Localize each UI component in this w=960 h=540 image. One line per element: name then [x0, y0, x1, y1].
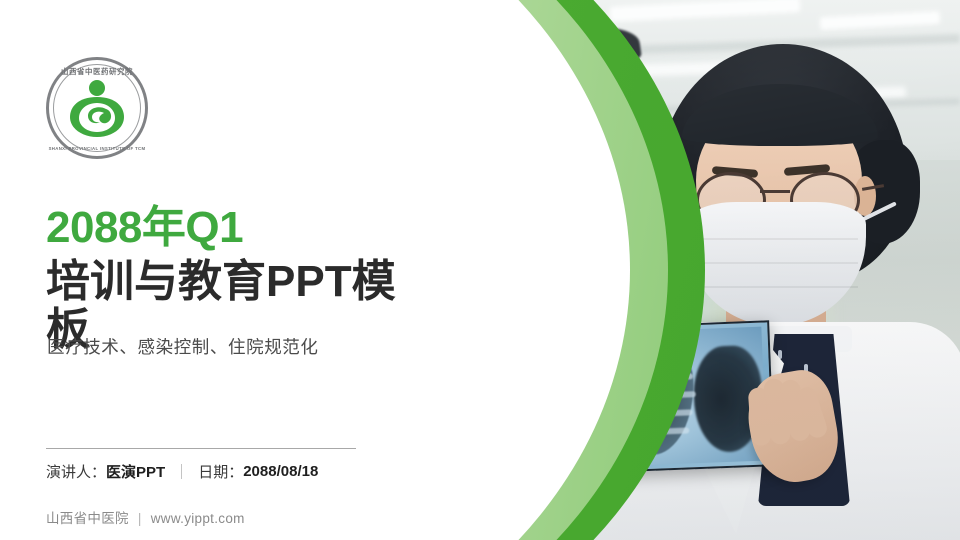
date-value: 2088/08/18 — [243, 463, 318, 480]
presenter-label: 演讲人： — [46, 461, 106, 482]
page-subtitle: 医疗技术、感染控制、住院规范化 — [47, 334, 319, 359]
glasses-bridge — [760, 190, 790, 193]
date-label: 日期： — [198, 461, 243, 482]
divider — [46, 448, 356, 449]
mask-fold — [694, 238, 858, 240]
mask-fold — [694, 286, 858, 288]
face-mask — [686, 202, 866, 326]
logo-name-en: SHANXI PROVINCIAL INSTITUTE OF TCM — [46, 146, 148, 151]
slide-content-panel: 山西省中医药研究院 SHANXI PROVINCIAL INSTITUTE OF… — [0, 0, 430, 540]
footer-separator: | — [138, 511, 142, 526]
slide-meta: 演讲人： 医演PPT 日期： 2088/08/18 — [46, 461, 318, 482]
footer-site[interactable]: www.yippt.com — [151, 511, 245, 526]
institution-logo: 山西省中医药研究院 SHANXI PROVINCIAL INSTITUTE OF… — [46, 57, 148, 159]
presentation-slide: 山西省中医药研究院 SHANXI PROVINCIAL INSTITUTE OF… — [0, 0, 960, 540]
page-title-year: 2088年Q1 — [46, 206, 243, 250]
logo-name-cn: 山西省中医药研究院 — [46, 66, 148, 77]
logo-mark-icon — [66, 77, 128, 139]
slide-footer: 山西省中医院 | www.yippt.com — [46, 507, 245, 527]
footer-org: 山西省中医院 — [46, 511, 129, 526]
presenter-value: 医演PPT — [106, 461, 165, 482]
meta-separator — [181, 464, 182, 479]
mask-fold — [694, 262, 858, 264]
